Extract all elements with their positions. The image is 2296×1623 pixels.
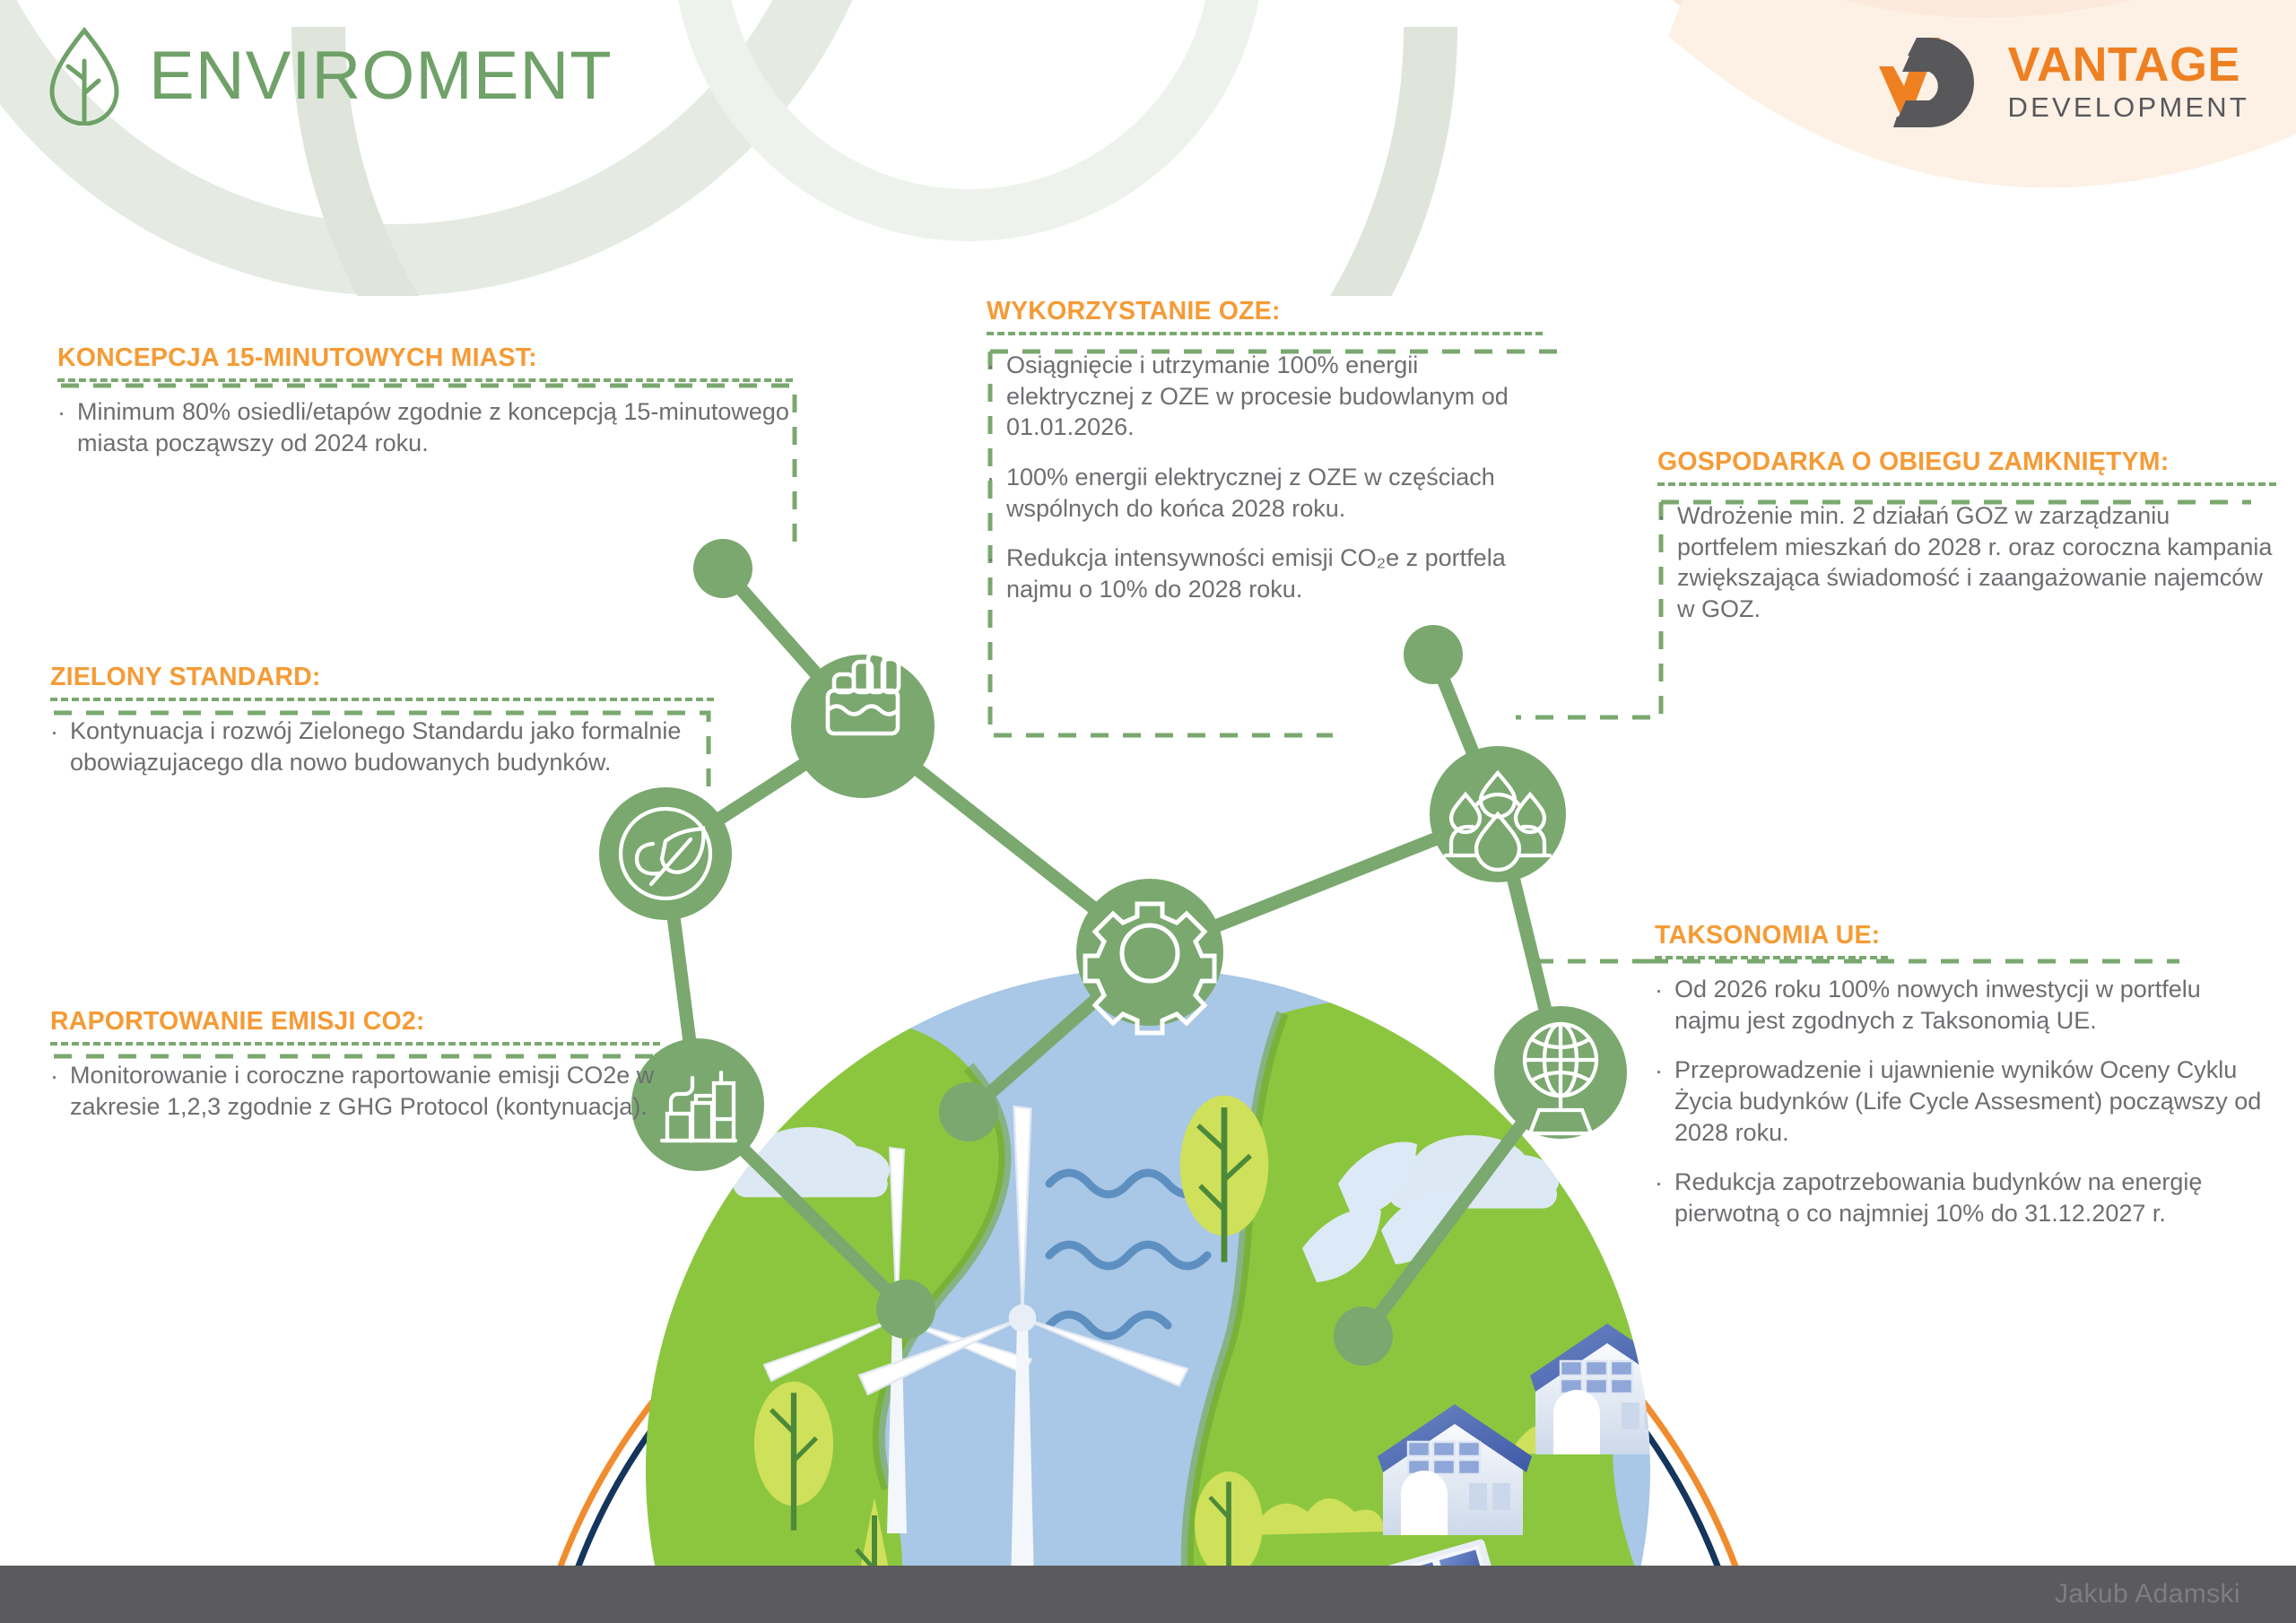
callout-zielony-standard: ZIELONY STANDARD: · Kontynuacja i rozwój…: [50, 664, 714, 777]
callout-taksonomia-ue: TAKSONOMIA UE: · Od 2026 roku 100% nowyc…: [1655, 922, 2265, 1228]
cloud: [729, 1127, 1680, 1404]
list-item: · Wdrożenie min. 2 działań GOZ w zarządz…: [1657, 500, 2276, 624]
callout-bullets: · Monitorowanie i coroczne raportowanie …: [50, 1060, 660, 1122]
city-skyline-water-icon: [828, 653, 899, 733]
footer-bar: Jakub Adamski: [0, 1566, 2296, 1623]
earth-globe: [579, 968, 1807, 1623]
bullet-marker: ·: [50, 1060, 58, 1122]
callout-koncepcja-15-minutowych-miast: KONCEPCJA 15-MINUTOWYCH MIAST: · Minimum…: [57, 344, 793, 458]
callout-title: RAPORTOWANIE EMISJI CO2:: [50, 1008, 660, 1036]
bullet-text: Przeprowadzenie i ujawnienie wyników Oce…: [1674, 1055, 2265, 1148]
node-icons-layer: [0, 0, 2296, 1623]
tree: [754, 1096, 1807, 1623]
infographic-page: ENVIROMENT VANTAGE DEVELOPMENT: [0, 0, 2296, 1623]
callout-bullets: · Od 2026 roku 100% nowych inwestycji w …: [1655, 974, 2265, 1228]
list-item: · Redukcja zapotrzebowania budynków na e…: [1655, 1167, 2265, 1228]
list-item: · Monitorowanie i coroczne raportowanie …: [50, 1060, 660, 1122]
bullet-text: Monitorowanie i coroczne raportowanie em…: [70, 1060, 660, 1122]
list-item: · Redukcja intensywności emisji CO₂e z p…: [987, 542, 1543, 604]
bullet-text: Redukcja intensywności emisji CO₂e z por…: [1006, 542, 1543, 604]
callout-divider: [1657, 482, 2276, 486]
bullet-text: 100% energii elektrycznej z OZE w części…: [1006, 462, 1543, 524]
bullet-text: Osiągnięcie i utrzymanie 100% energii el…: [1006, 350, 1543, 443]
callout-bullets: · Kontynuacja i rozwój Zielonego Standar…: [50, 716, 714, 777]
list-item: · Kontynuacja i rozwój Zielonego Standar…: [50, 716, 714, 777]
company-subtitle: DEVELOPMENT: [2008, 93, 2249, 121]
callout-divider: [987, 332, 1543, 335]
callout-bullets: · Osiągnięcie i utrzymanie 100% energii …: [987, 350, 1543, 604]
sidebar-node-droplets[interactable]: [1430, 746, 1566, 882]
bullet-marker: ·: [1655, 974, 1663, 1036]
node-network: [0, 0, 2296, 1623]
bullet-marker: ·: [57, 396, 65, 458]
wind-turbine: [764, 1107, 1187, 1583]
author-name: Jakub Adamski: [2055, 1579, 2240, 1610]
sidebar-node-leaf[interactable]: [599, 787, 732, 920]
list-item: · Przeprowadzenie i ujawnienie wyników O…: [1655, 1055, 2265, 1148]
background-decoration: [0, 0, 2296, 1623]
bullet-text: Od 2026 roku 100% nowych inwestycji w po…: [1674, 974, 2265, 1036]
factory-icon: [662, 1072, 735, 1141]
callout-divider: [50, 698, 714, 701]
connector-endpoint: [693, 539, 1463, 1366]
callout-title: ZIELONY STANDARD:: [50, 664, 714, 691]
list-item: · Minimum 80% osiedli/etapów zgodnie z k…: [57, 396, 793, 458]
sidebar-node-city[interactable]: [791, 653, 935, 798]
gear-icon: [1085, 904, 1214, 1033]
leaf-icon: [45, 25, 124, 126]
callout-title: WYKORZYSTANIE OZE:: [987, 298, 1543, 325]
leaf-circle-icon: [637, 829, 703, 884]
globe-stand-icon: [1525, 1024, 1596, 1133]
callout-title: TAKSONOMIA UE:: [1655, 922, 2265, 950]
callout-title: GOSPODARKA O OBIEGU ZAMKNIĘTYM:: [1657, 448, 2276, 476]
sidebar-node-gear[interactable]: [1076, 879, 1223, 1033]
bullet-marker: ·: [987, 462, 995, 524]
list-item: · 100% energii elektrycznej z OZE w częś…: [987, 462, 1543, 524]
callout-divider: [50, 1042, 660, 1046]
bullet-text: Minimum 80% osiedli/etapów zgodnie z kon…: [77, 396, 793, 458]
bullet-text: Wdrożenie min. 2 działań GOZ w zarządzan…: [1677, 500, 2276, 624]
callout-wykorzystanie-oze: WYKORZYSTANIE OZE: · Osiągnięcie i utrzy…: [987, 298, 1543, 604]
bullet-marker: ·: [1655, 1055, 1663, 1148]
callout-bullets: · Wdrożenie min. 2 działań GOZ w zarządz…: [1657, 500, 2276, 624]
callout-connectors: [0, 0, 2296, 1623]
bullet-marker: ·: [987, 542, 995, 604]
callout-raportowanie-emisji-co2: RAPORTOWANIE EMISJI CO2: · Monitorowanie…: [50, 1008, 660, 1122]
orbit-arc-orange: [552, 1160, 1744, 1592]
connector-lines: [665, 568, 1561, 1336]
leaf-decoration: [1302, 1141, 1458, 1282]
company-logo: VANTAGE DEVELOPMENT: [1854, 30, 2249, 131]
vd-monogram-icon: [1854, 30, 1988, 131]
green-earth-illustration: [0, 0, 2296, 1623]
list-item: · Od 2026 roku 100% nowych inwestycji w …: [1655, 974, 2265, 1036]
page-title: ENVIROMENT: [149, 37, 613, 115]
orbit-arc-navy: [574, 1175, 1722, 1578]
bullet-text: Kontynuacja i rozwój Zielonego Standardu…: [70, 716, 714, 777]
callout-divider: [57, 378, 793, 382]
bullet-marker: ·: [1657, 500, 1665, 624]
sidebar-node-globe[interactable]: [1494, 1006, 1627, 1139]
brand-header: ENVIROMENT: [45, 25, 613, 126]
company-name: VANTAGE: [2008, 40, 2249, 89]
bullet-marker: ·: [1655, 1167, 1663, 1228]
callout-divider: [1655, 956, 1888, 959]
callout-title: KONCEPCJA 15-MINUTOWYCH MIAST:: [57, 344, 793, 372]
bullet-marker: ·: [50, 716, 58, 777]
bullet-marker: ·: [987, 350, 995, 443]
callout-gospodarka-o-obiegu-zamknietym: GOSPODARKA O OBIEGU ZAMKNIĘTYM: · Wdroże…: [1657, 448, 2276, 625]
list-item: · Osiągnięcie i utrzymanie 100% energii …: [987, 350, 1543, 443]
people-droplets-icon: [1446, 773, 1550, 870]
water-waves: [978, 1173, 1207, 1623]
bullet-text: Redukcja zapotrzebowania budynków na ene…: [1674, 1167, 2265, 1228]
callout-bullets: · Minimum 80% osiedli/etapów zgodnie z k…: [57, 396, 793, 458]
